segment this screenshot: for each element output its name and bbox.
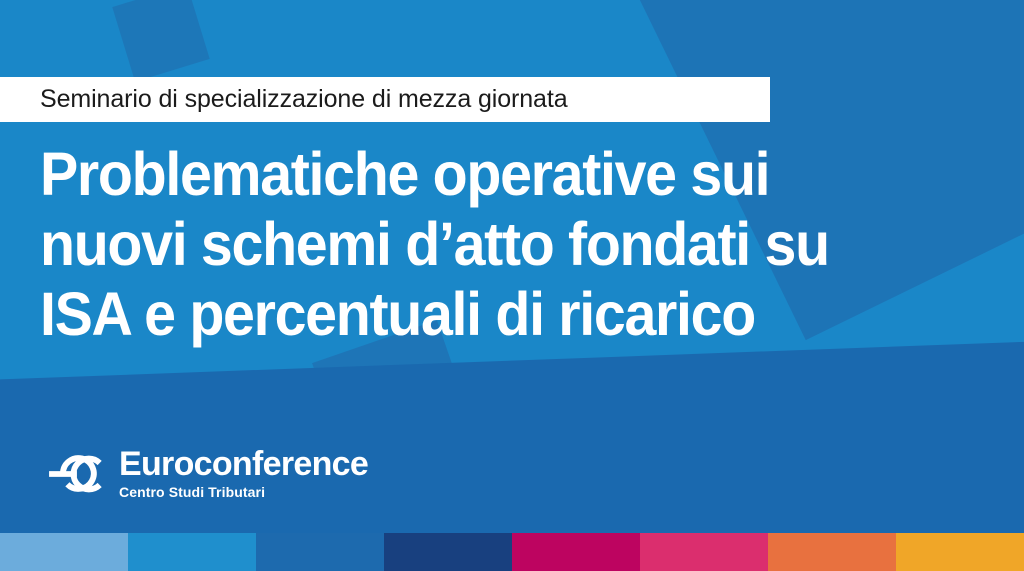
logo-name: Euroconference <box>119 447 368 481</box>
color-band-sky-blue <box>128 533 256 571</box>
kicker-label: Seminario di specializzazione di mezza g… <box>40 85 568 114</box>
promo-banner: Seminario di specializzazione di mezza g… <box>0 0 1024 571</box>
headline-line-3: ISA e percentuali di ricarico <box>40 279 924 349</box>
color-band-pink <box>640 533 768 571</box>
logo-tagline: Centro Studi Tributari <box>119 483 368 501</box>
headline-line-2: nuovi schemi d’atto fondati su <box>40 209 924 279</box>
color-band-amber <box>896 533 1024 571</box>
color-strip <box>0 533 1024 571</box>
ec-monogram-icon <box>41 451 107 497</box>
color-band-magenta <box>512 533 640 571</box>
euroconference-logo: Euroconference Centro Studi Tributari <box>41 447 368 501</box>
page-title: Problematiche operative sui nuovi schemi… <box>40 139 924 349</box>
logo-wordmark: Euroconference Centro Studi Tributari <box>119 447 368 501</box>
color-band-medium-blue <box>256 533 384 571</box>
kicker-banner: Seminario di specializzazione di mezza g… <box>0 77 770 122</box>
color-band-navy-blue <box>384 533 512 571</box>
color-band-light-blue <box>0 533 128 571</box>
color-band-orange <box>768 533 896 571</box>
decorative-square-top <box>112 0 209 82</box>
headline-line-1: Problematiche operative sui <box>40 139 924 209</box>
